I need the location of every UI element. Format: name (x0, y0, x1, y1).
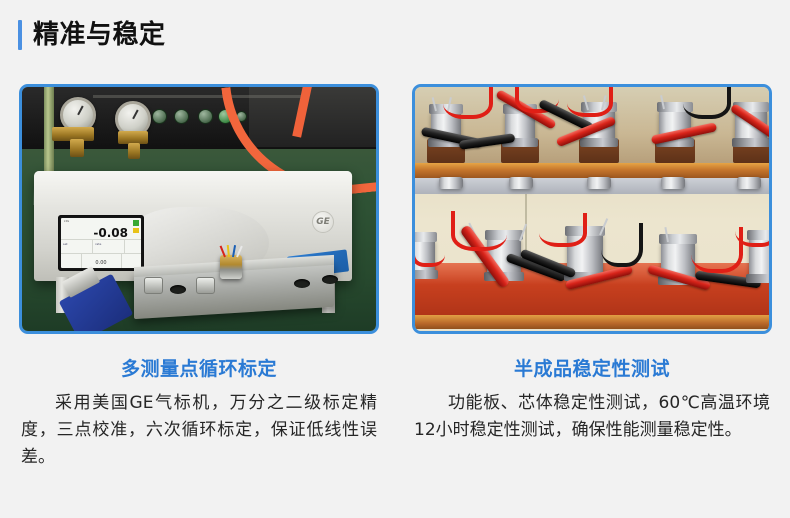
accent-bar-icon (18, 20, 22, 50)
display-secondary-value: 0.00 (82, 260, 121, 266)
sensor-under-test (220, 255, 242, 279)
page-title: 精准与稳定 (33, 20, 166, 50)
card-body-calibration: 采用美国GE气标机，万分之二级标定精度，三点校准，六次循环标定，保证低线性误差。 (19, 390, 379, 471)
device-display: kPa -0.08 set rate (58, 215, 144, 271)
display-unit-label: kPa (64, 219, 69, 223)
ge-logo: GE (312, 211, 334, 233)
section-header: 精准与稳定 (18, 19, 166, 51)
shelf-board-upper (415, 163, 769, 178)
card-caption-calibration: 多测量点循环标定 (19, 358, 379, 380)
photo-frame-stability (412, 84, 772, 334)
shelf-board-lower (415, 315, 769, 329)
card-calibration: kPa -0.08 set rate (19, 84, 379, 471)
card-stability: 半成品稳定性测试 功能板、芯体稳定性测试，60℃高温环境12小时稳定性测试，确保… (412, 84, 772, 471)
photo-calibration: kPa -0.08 set rate (22, 87, 376, 331)
cards-row: kPa -0.08 set rate (0, 84, 790, 471)
card-body-stability: 功能板、芯体稳定性测试，60℃高温环境12小时稳定性测试，确保性能测量稳定性。 (412, 390, 772, 444)
photo-stability (415, 87, 769, 331)
display-value: -0.08 (93, 227, 128, 239)
photo-frame-calibration: kPa -0.08 set rate (19, 84, 379, 334)
card-caption-stability: 半成品稳定性测试 (412, 358, 772, 380)
